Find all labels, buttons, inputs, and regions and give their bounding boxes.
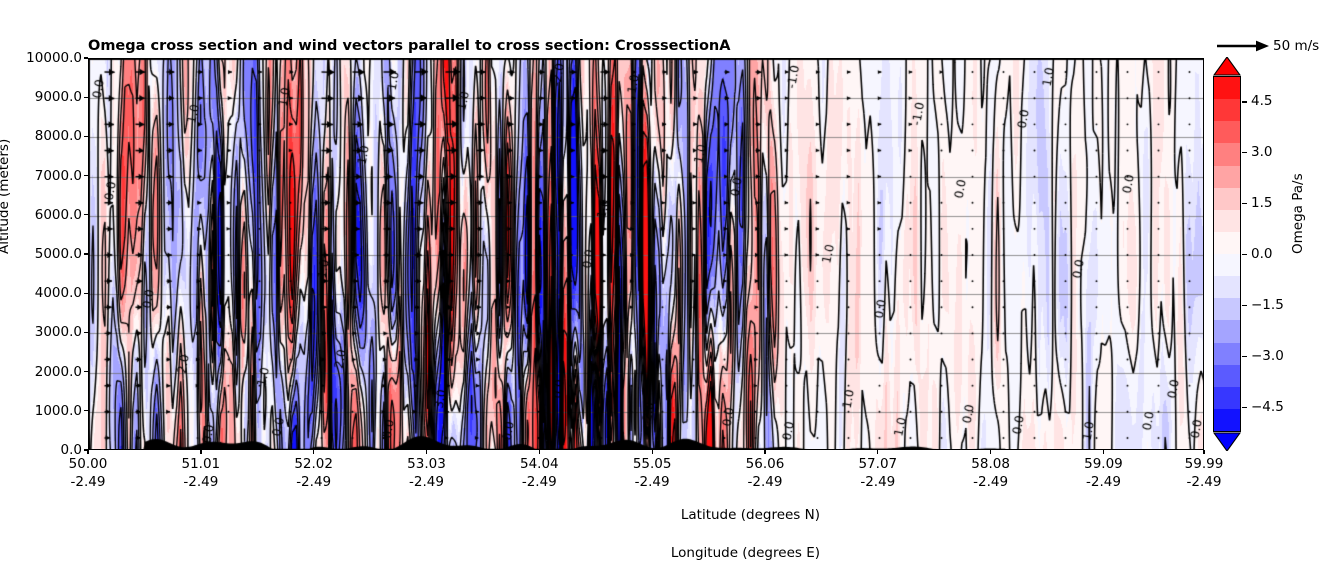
x-tick-label: 59.09-2.49 xyxy=(1084,455,1123,491)
y-tick-label: 5000.0 xyxy=(35,246,82,262)
x-tick-label: 57.07-2.49 xyxy=(858,455,897,491)
colorbar-tick-mark xyxy=(1242,305,1247,306)
x-tick-latitude: 59.99 xyxy=(1185,455,1224,473)
colorbar-band xyxy=(1214,254,1240,276)
colorbar-band xyxy=(1214,298,1240,320)
x-axis-label: Latitude (degrees N) Longitude (degrees … xyxy=(654,487,820,582)
y-tick-label: 1000.0 xyxy=(35,403,82,419)
colorbar-tick-label: 1.5 xyxy=(1251,195,1272,211)
x-tick-longitude: -2.49 xyxy=(520,473,559,491)
x-tick-mark xyxy=(877,450,878,454)
x-tick-latitude: 59.09 xyxy=(1084,455,1123,473)
x-tick-label: 51.01-2.49 xyxy=(182,455,221,491)
colorbar-tick-mark xyxy=(1242,407,1247,408)
colorbar-tick-label: −3.0 xyxy=(1251,348,1284,364)
x-tick-latitude: 56.06 xyxy=(746,455,785,473)
x-tick-label: 54.04-2.49 xyxy=(520,455,559,491)
colorbar-gradient xyxy=(1213,76,1241,432)
colorbar-band xyxy=(1214,143,1240,165)
colorbar-tick-mark xyxy=(1242,203,1247,204)
colorbar-band xyxy=(1214,99,1240,121)
x-axis-label-line-1: Latitude (degrees N) xyxy=(681,507,820,523)
colorbar-band xyxy=(1214,166,1240,188)
colorbar-band xyxy=(1214,121,1240,143)
y-tick-mark xyxy=(84,332,88,333)
colorbar-tick-mark xyxy=(1242,356,1247,357)
colorbar-band xyxy=(1214,365,1240,387)
colorbar-label: Omega Pa/s xyxy=(1290,173,1306,254)
quiver-key: 50 m/s xyxy=(1215,36,1320,58)
colorbar-tick-mark xyxy=(1242,254,1247,255)
y-tick-label: 6000.0 xyxy=(35,207,82,223)
x-tick-label: 53.03-2.49 xyxy=(407,455,446,491)
y-tick-mark xyxy=(84,97,88,98)
title-line-1: Omega cross section and wind vectors par… xyxy=(88,38,1188,54)
x-tick-longitude: -2.49 xyxy=(69,473,108,491)
colorbar-tick-label: 0.0 xyxy=(1251,246,1272,262)
y-tick-label: 3000.0 xyxy=(35,324,82,340)
x-tick-mark xyxy=(1203,450,1204,454)
colorbar-tick-label: −1.5 xyxy=(1251,297,1284,313)
y-tick-label: 2000.0 xyxy=(35,364,82,380)
x-tick-latitude: 52.02 xyxy=(294,455,333,473)
quiver-key-label: 50 m/s xyxy=(1273,38,1319,54)
x-tick-mark xyxy=(990,450,991,454)
colorbar-tick-label: 4.5 xyxy=(1251,93,1272,109)
colorbar-band xyxy=(1214,343,1240,365)
colorbar-band xyxy=(1214,188,1240,210)
y-tick-mark xyxy=(84,175,88,176)
y-tick-label: 4000.0 xyxy=(35,285,82,301)
x-tick-latitude: 50.00 xyxy=(69,455,108,473)
arrow-right-icon xyxy=(1215,36,1271,56)
x-axis-label-line-2: Longitude (degrees E) xyxy=(671,545,820,561)
x-tick-longitude: -2.49 xyxy=(1185,473,1224,491)
colorbar-tick-mark xyxy=(1242,101,1247,102)
y-tick-label: 7000.0 xyxy=(35,168,82,184)
x-tick-latitude: 57.07 xyxy=(858,455,897,473)
colorbar-extend-min xyxy=(1213,432,1241,451)
colorbar-band xyxy=(1214,210,1240,232)
colorbar-band xyxy=(1214,77,1240,99)
y-tick-label: 9000.0 xyxy=(35,89,82,105)
cross-section-plot xyxy=(88,58,1204,450)
colorbar-extend-max xyxy=(1213,57,1241,76)
x-tick-longitude: -2.49 xyxy=(1084,473,1123,491)
x-tick-mark xyxy=(313,450,314,454)
x-tick-longitude: -2.49 xyxy=(971,473,1010,491)
colorbar-tick-label: −4.5 xyxy=(1251,399,1284,415)
colorbar-tick-mark xyxy=(1242,152,1247,153)
x-tick-latitude: 51.01 xyxy=(182,455,221,473)
x-tick-label: 52.02-2.49 xyxy=(294,455,333,491)
colorbar-band xyxy=(1214,232,1240,254)
x-tick-label: 50.00-2.49 xyxy=(69,455,108,491)
y-tick-label: 10000.0 xyxy=(26,50,82,66)
x-tick-mark xyxy=(426,450,427,454)
y-tick-label: 8000.0 xyxy=(35,128,82,144)
x-tick-longitude: -2.49 xyxy=(182,473,221,491)
x-tick-mark xyxy=(652,450,653,454)
x-tick-label: 55.05-2.49 xyxy=(633,455,672,491)
x-tick-mark xyxy=(764,450,765,454)
colorbar: 4.53.01.50.0−1.5−3.0−4.5 xyxy=(1213,57,1241,451)
x-tick-mark xyxy=(1103,450,1104,454)
x-tick-latitude: 55.05 xyxy=(633,455,672,473)
colorbar-band xyxy=(1214,387,1240,409)
x-tick-longitude: -2.49 xyxy=(294,473,333,491)
y-tick-mark xyxy=(84,136,88,137)
y-tick-mark xyxy=(84,410,88,411)
x-tick-mark xyxy=(87,450,88,454)
x-tick-longitude: -2.49 xyxy=(407,473,446,491)
x-tick-longitude: -2.49 xyxy=(858,473,897,491)
colorbar-tick-label: 3.0 xyxy=(1251,144,1272,160)
y-axis-label: Altitude (meters) xyxy=(0,139,12,254)
colorbar-band xyxy=(1214,276,1240,298)
x-tick-label: 58.08-2.49 xyxy=(971,455,1010,491)
x-tick-latitude: 58.08 xyxy=(971,455,1010,473)
x-tick-longitude: -2.49 xyxy=(746,473,785,491)
x-tick-longitude: -2.49 xyxy=(633,473,672,491)
x-tick-label: 56.06-2.49 xyxy=(746,455,785,491)
x-tick-mark xyxy=(200,450,201,454)
y-tick-mark xyxy=(84,57,88,58)
y-tick-mark xyxy=(84,253,88,254)
y-tick-mark xyxy=(84,371,88,372)
x-tick-latitude: 53.03 xyxy=(407,455,446,473)
x-tick-mark xyxy=(539,450,540,454)
y-tick-mark xyxy=(84,293,88,294)
x-tick-latitude: 54.04 xyxy=(520,455,559,473)
plot-canvas-host xyxy=(89,59,1203,449)
omega-field-canvas xyxy=(89,59,1204,450)
colorbar-band xyxy=(1214,320,1240,342)
x-tick-label: 59.99-2.49 xyxy=(1185,455,1224,491)
y-tick-mark xyxy=(84,214,88,215)
colorbar-band xyxy=(1214,409,1240,431)
